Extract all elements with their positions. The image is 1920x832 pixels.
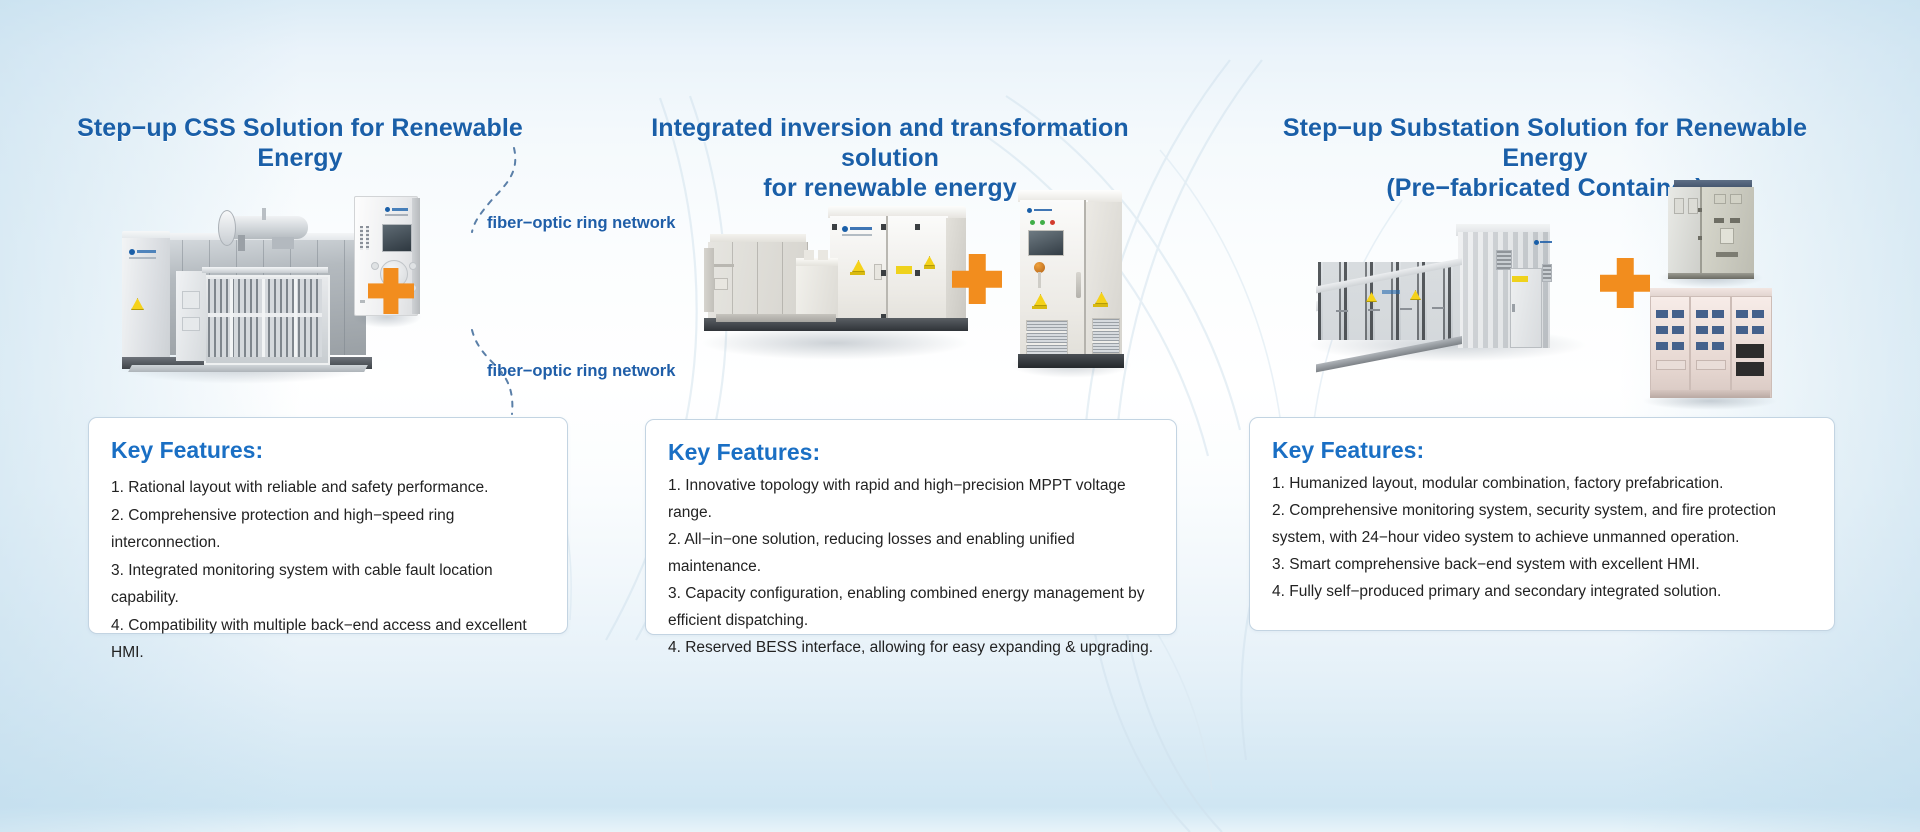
list-item: 4. Reserved BESS interface, allowing for… bbox=[668, 634, 1154, 661]
panel-1-key-features-card: Key Features: 1. Rational layout with re… bbox=[88, 417, 568, 634]
list-item: 3. Integrated monitoring system with cab… bbox=[111, 557, 545, 612]
panel-3-key-features-card: Key Features: 1. Humanized layout, modul… bbox=[1249, 417, 1835, 631]
list-item: 1. Humanized layout, modular combination… bbox=[1272, 470, 1812, 497]
panel-1-title: Step−up CSS Solution for Renewable Energ… bbox=[60, 113, 540, 173]
panel-1-plus-icon bbox=[368, 268, 414, 314]
panel-3-plus-icon bbox=[1600, 258, 1650, 308]
panel-3-key-features-list: 1. Humanized layout, modular combination… bbox=[1272, 470, 1812, 605]
switchgear-cabinet-photo bbox=[1658, 178, 1764, 284]
css-transformer-station-photo bbox=[112, 205, 372, 380]
list-item: 1. Rational layout with reliable and saf… bbox=[111, 474, 545, 502]
list-item: 2. Comprehensive monitoring system, secu… bbox=[1272, 497, 1812, 551]
panel-1-key-features-heading: Key Features: bbox=[111, 436, 545, 464]
list-item: 2. Comprehensive protection and high−spe… bbox=[111, 502, 545, 557]
list-item: 2. All−in−one solution, reducing losses … bbox=[668, 526, 1154, 580]
list-item: 1. Innovative topology with rapid and hi… bbox=[668, 472, 1154, 526]
panel-3-key-features-heading: Key Features: bbox=[1272, 436, 1812, 464]
panel-2-key-features-list: 1. Innovative topology with rapid and hi… bbox=[668, 472, 1154, 661]
panel-2-title-line1: Integrated inversion and transformation … bbox=[620, 113, 1160, 173]
fiber-ring-bottom-label: fiber−optic ring network bbox=[487, 362, 675, 381]
panel-2-key-features-heading: Key Features: bbox=[668, 438, 1154, 466]
list-item: 4. Fully self−produced primary and secon… bbox=[1272, 578, 1812, 605]
panel-1-key-features-list: 1. Rational layout with reliable and saf… bbox=[111, 474, 545, 667]
list-item: 3. Smart comprehensive back−end system w… bbox=[1272, 551, 1812, 578]
integrated-skid-station-photo bbox=[700, 178, 970, 358]
list-item: 4. Compatibility with multiple back−end … bbox=[111, 612, 545, 667]
fiber-ring-top-label: fiber−optic ring network bbox=[487, 214, 675, 233]
panel-2-plus-icon bbox=[952, 254, 1002, 304]
panel-2-key-features-card: Key Features: 1. Innovative topology wit… bbox=[645, 419, 1177, 635]
protection-panel-lineup-photo bbox=[1642, 288, 1778, 406]
inverter-cabinet-photo bbox=[1010, 180, 1132, 380]
prefabricated-container-substation-photo bbox=[1306, 180, 1588, 360]
panel-3-title-line1: Step−up Substation Solution for Renewabl… bbox=[1240, 113, 1850, 173]
list-item: 3. Capacity configuration, enabling comb… bbox=[668, 580, 1154, 634]
